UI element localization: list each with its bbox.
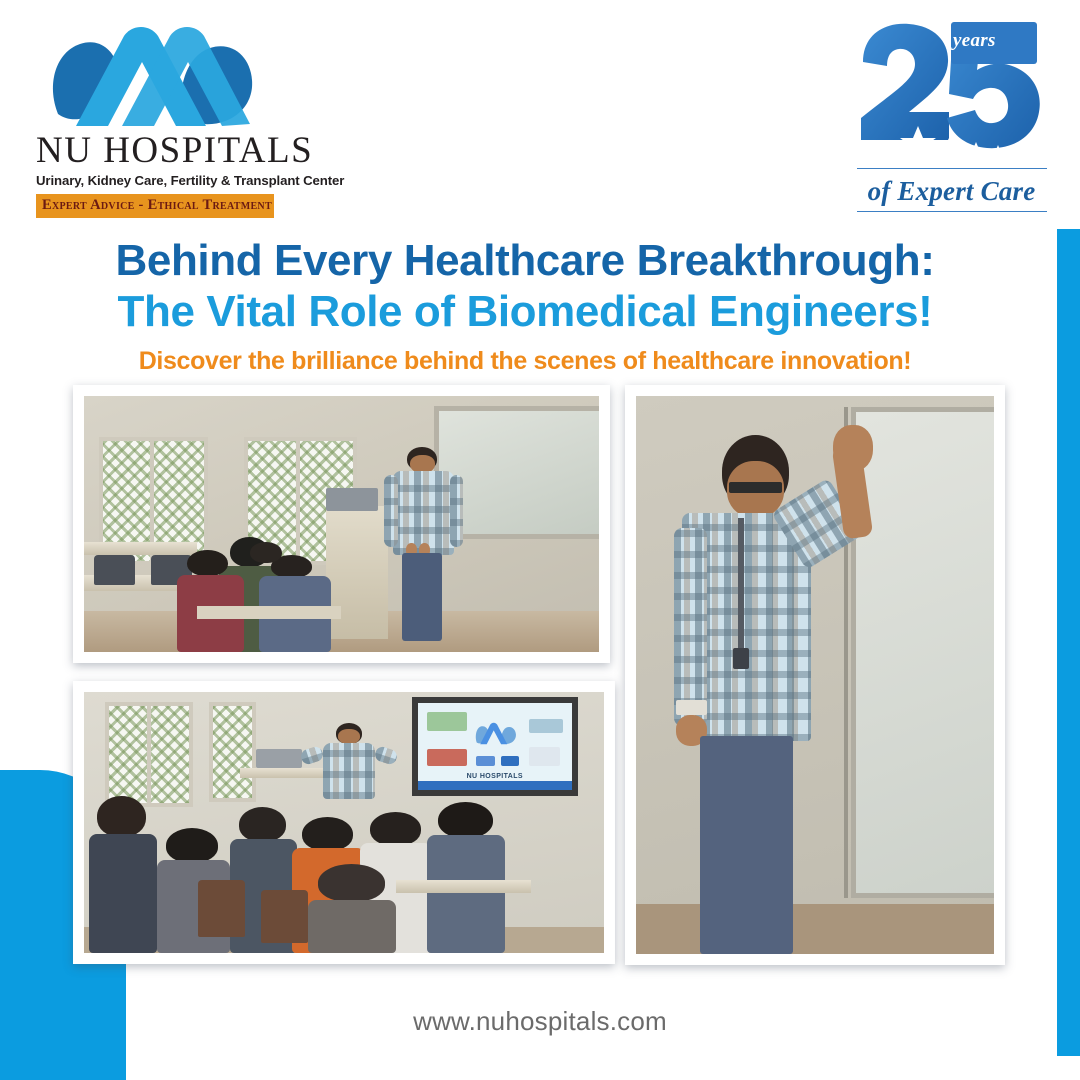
anniversary-badge: years of Expert Care: [845, 18, 1050, 213]
anniversary-caption: of Expert Care: [853, 176, 1050, 207]
anniversary-25-icon: [845, 18, 1050, 168]
anniversary-years-label: years: [953, 30, 996, 52]
slide-logo-icon: [465, 719, 524, 745]
slide-title: NU HOSPITALS: [418, 773, 572, 780]
gallery-photo-classroom-wide: [73, 385, 610, 663]
anniversary-rule-top: [857, 168, 1047, 170]
photo-canvas: [636, 396, 994, 954]
brand-descriptor: Urinary, Kidney Care, Fertility & Transp…: [36, 173, 274, 188]
gallery-photo-audience: NU HOSPITALS: [73, 681, 615, 964]
brand-tagline: Expert Advice - Ethical Treatment: [36, 194, 274, 218]
nu-hospitals-logo: NU HOSPITALS Urinary, Kidney Care, Ferti…: [36, 22, 274, 212]
photo-canvas: [84, 396, 599, 652]
photo-canvas: NU HOSPITALS: [84, 692, 604, 953]
headline-subline: Discover the brilliance behind the scene…: [0, 346, 1050, 376]
headline-block: Behind Every Healthcare Breakthrough: Th…: [0, 236, 1050, 376]
accent-bar-right: [1057, 229, 1080, 1056]
poster-canvas: NU HOSPITALS Urinary, Kidney Care, Ferti…: [0, 0, 1080, 1080]
brand-name: NU HOSPITALS: [36, 132, 274, 169]
headline-line-1: Behind Every Healthcare Breakthrough:: [0, 236, 1050, 285]
anniversary-rule-bottom: [857, 211, 1047, 213]
gallery-photo-speaker-closeup: [625, 385, 1005, 965]
projector-screen: NU HOSPITALS: [412, 697, 578, 796]
nu-hospitals-wave-icon: [36, 22, 274, 130]
website-url[interactable]: www.nuhospitals.com: [0, 1006, 1080, 1037]
headline-line-2: The Vital Role of Biomedical Engineers!: [0, 287, 1050, 336]
